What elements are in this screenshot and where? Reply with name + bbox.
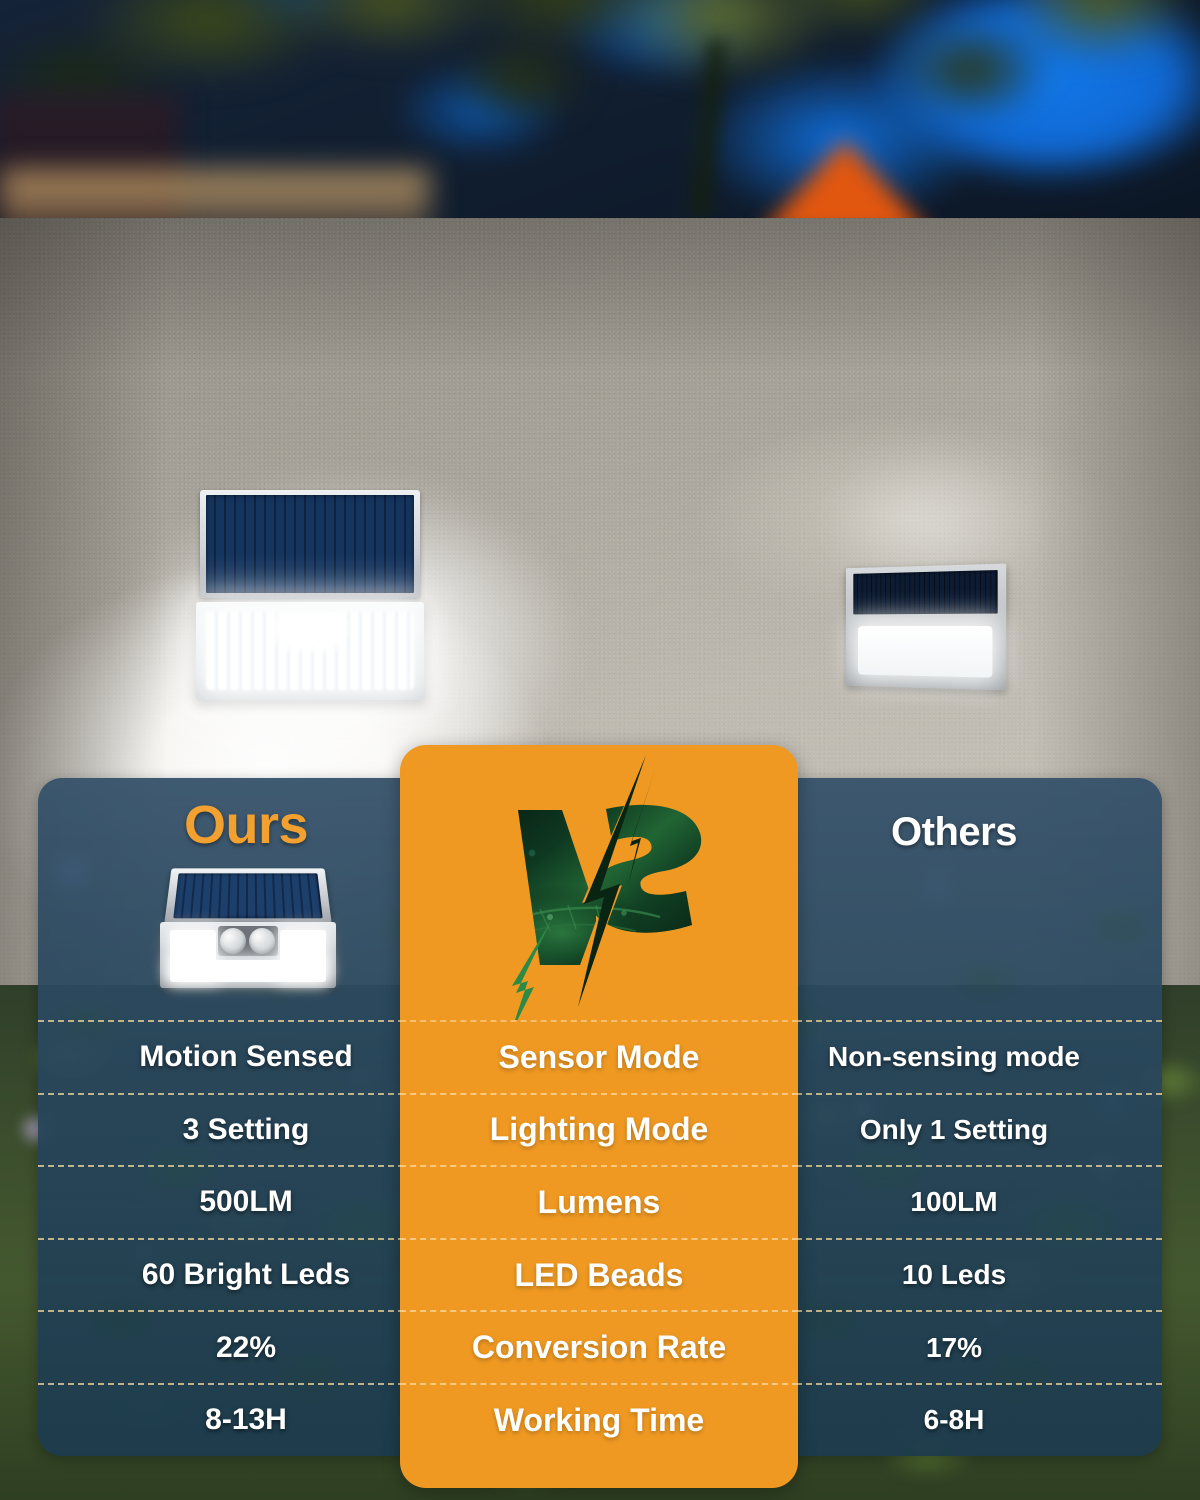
ours-product-thumbnail: [156, 864, 336, 994]
table-row: 8-13H: [38, 1383, 454, 1456]
table-row: 100LM: [746, 1165, 1162, 1238]
table-row: 60 Bright Leds: [38, 1238, 454, 1311]
table-row: 500LM: [38, 1165, 454, 1238]
table-row: Only 1 Setting: [746, 1093, 1162, 1166]
ours-thumb-led-bottom: [170, 960, 326, 982]
others-rows: Non-sensing mode Only 1 Setting 100LM 10…: [746, 1020, 1162, 1456]
others-title: Others: [746, 810, 1162, 855]
table-row: 6-8H: [746, 1383, 1162, 1456]
table-row: 22%: [38, 1310, 454, 1383]
table-row: Motion Sensed: [38, 1020, 454, 1093]
table-row: Sensor Mode: [400, 1020, 798, 1093]
table-row: 10 Leds: [746, 1238, 1162, 1311]
table-row: Lighting Mode: [400, 1093, 798, 1166]
vs-logo: [400, 745, 798, 1020]
others-card-header: Others: [746, 778, 1162, 1020]
table-row: LED Beads: [400, 1238, 798, 1311]
table-row: Conversion Rate: [400, 1310, 798, 1383]
ours-thumb-sensor-right: [249, 928, 275, 954]
ours-thumb-solar-cells: [173, 873, 322, 918]
ours-rows: Motion Sensed 3 Setting 500LM 60 Bright …: [38, 1020, 454, 1456]
ours-title: Ours: [38, 794, 454, 856]
table-row: Non-sensing mode: [746, 1020, 1162, 1093]
others-card: Others Non-sensing mode Only 1 Setting 1…: [746, 778, 1162, 1456]
ours-card: Ours Motion Sensed 3 Setting 500LM 60 Br…: [38, 778, 454, 1456]
ours-thumb-sensor-left: [220, 928, 246, 954]
table-row: Lumens: [400, 1165, 798, 1238]
features-card: Sensor Mode Lighting Mode Lumens LED Bea…: [400, 745, 798, 1488]
feature-rows: Sensor Mode Lighting Mode Lumens LED Bea…: [400, 1020, 798, 1456]
table-row: 17%: [746, 1310, 1162, 1383]
ours-thumb-solar-frame: [164, 868, 332, 924]
vs-letters: [490, 785, 720, 975]
vs-logo-svg: [400, 745, 798, 1020]
ours-card-header: Ours: [38, 778, 454, 1020]
table-row: Working Time: [400, 1383, 798, 1456]
table-row: 3 Setting: [38, 1093, 454, 1166]
comparison-table: Ours Motion Sensed 3 Setting 500LM 60 Br…: [0, 0, 1200, 1500]
